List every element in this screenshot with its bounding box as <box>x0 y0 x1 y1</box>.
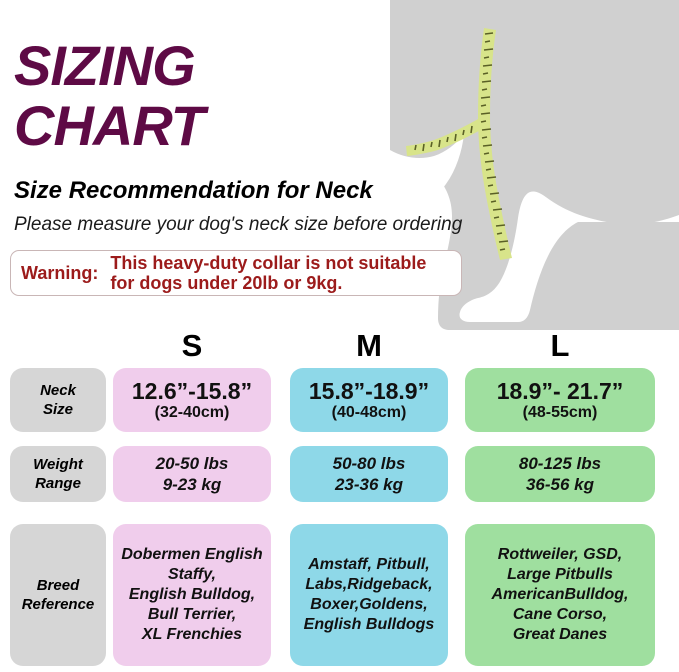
neck-size-medium-inches: 15.8”-18.9” <box>309 378 429 404</box>
neck-size-large-inches: 18.9”- 21.7” <box>497 378 624 404</box>
warning-label: Warning: <box>21 263 98 284</box>
row-label-text: Breed Reference <box>22 576 95 614</box>
neck-size-medium-cm: (40-48cm) <box>332 404 407 422</box>
table-row-breed-reference: Breed Reference Dobermen English Staffy,… <box>0 518 679 672</box>
measuring-tape-ticks <box>481 33 508 250</box>
cell-weight-medium: 50-80 lbs 23-36 kg <box>290 446 448 502</box>
neck-size-small-inches: 12.6”-15.8” <box>132 378 252 404</box>
breed-medium-text: Amstaff, Pitbull, Labs,Ridgeback, Boxer,… <box>304 555 435 635</box>
row-label-weight-range: Weight Range <box>10 446 106 502</box>
neck-size-large-cm: (48-55cm) <box>523 404 598 422</box>
neck-size-small-cm: (32-40cm) <box>155 404 230 422</box>
cell-breed-small: Dobermen English Staffy, English Bulldog… <box>113 524 271 666</box>
weight-medium-text: 50-80 lbs 23-36 kg <box>333 453 406 495</box>
breed-small-text: Dobermen English Staffy, English Bulldog… <box>121 545 262 645</box>
size-table: S M L Neck Size 12.6”-15.8” (32-40cm) 15… <box>0 330 679 672</box>
table-row-neck-size: Neck Size 12.6”-15.8” (32-40cm) 15.8”-18… <box>0 362 679 440</box>
cell-breed-large: Rottweiler, GSD, Large Pitbulls American… <box>465 524 655 666</box>
cell-neck-size-small: 12.6”-15.8” (32-40cm) <box>113 368 271 432</box>
cell-weight-small: 20-50 lbs 9-23 kg <box>113 446 271 502</box>
sizing-chart-page: SIZING CHART Size Recommendation for Nec… <box>0 0 679 672</box>
table-header-row: S M L <box>0 330 679 362</box>
page-title: SIZING CHART <box>14 38 484 154</box>
title-line-chart: CHART <box>14 98 484 154</box>
row-label-text: Neck Size <box>40 381 76 419</box>
cell-neck-size-medium: 15.8”-18.9” (40-48cm) <box>290 368 448 432</box>
size-header-large: L <box>465 330 655 362</box>
weight-large-text: 80-125 lbs 36-56 kg <box>519 453 601 495</box>
title-line-sizing: SIZING <box>14 38 484 94</box>
instruction-text: Please measure your dog's neck size befo… <box>14 214 462 236</box>
row-label-text: Weight Range <box>33 455 83 493</box>
cell-neck-size-large: 18.9”- 21.7” (48-55cm) <box>465 368 655 432</box>
breed-large-text: Rottweiler, GSD, Large Pitbulls American… <box>492 545 629 645</box>
warning-message: This heavy-duty collar is not suitable f… <box>110 253 426 293</box>
size-header-medium: M <box>290 330 448 362</box>
cell-weight-large: 80-125 lbs 36-56 kg <box>465 446 655 502</box>
warning-box: Warning: This heavy-duty collar is not s… <box>10 250 462 296</box>
subtitle-text: Size Recommendation for Neck <box>14 178 373 204</box>
row-label-breed-reference: Breed Reference <box>10 524 106 666</box>
cell-breed-medium: Amstaff, Pitbull, Labs,Ridgeback, Boxer,… <box>290 524 448 666</box>
weight-small-text: 20-50 lbs 9-23 kg <box>156 453 229 495</box>
size-header-small: S <box>113 330 271 362</box>
table-row-weight-range: Weight Range 20-50 lbs 9-23 kg 50-80 lbs… <box>0 440 679 518</box>
row-label-neck-size: Neck Size <box>10 368 106 432</box>
